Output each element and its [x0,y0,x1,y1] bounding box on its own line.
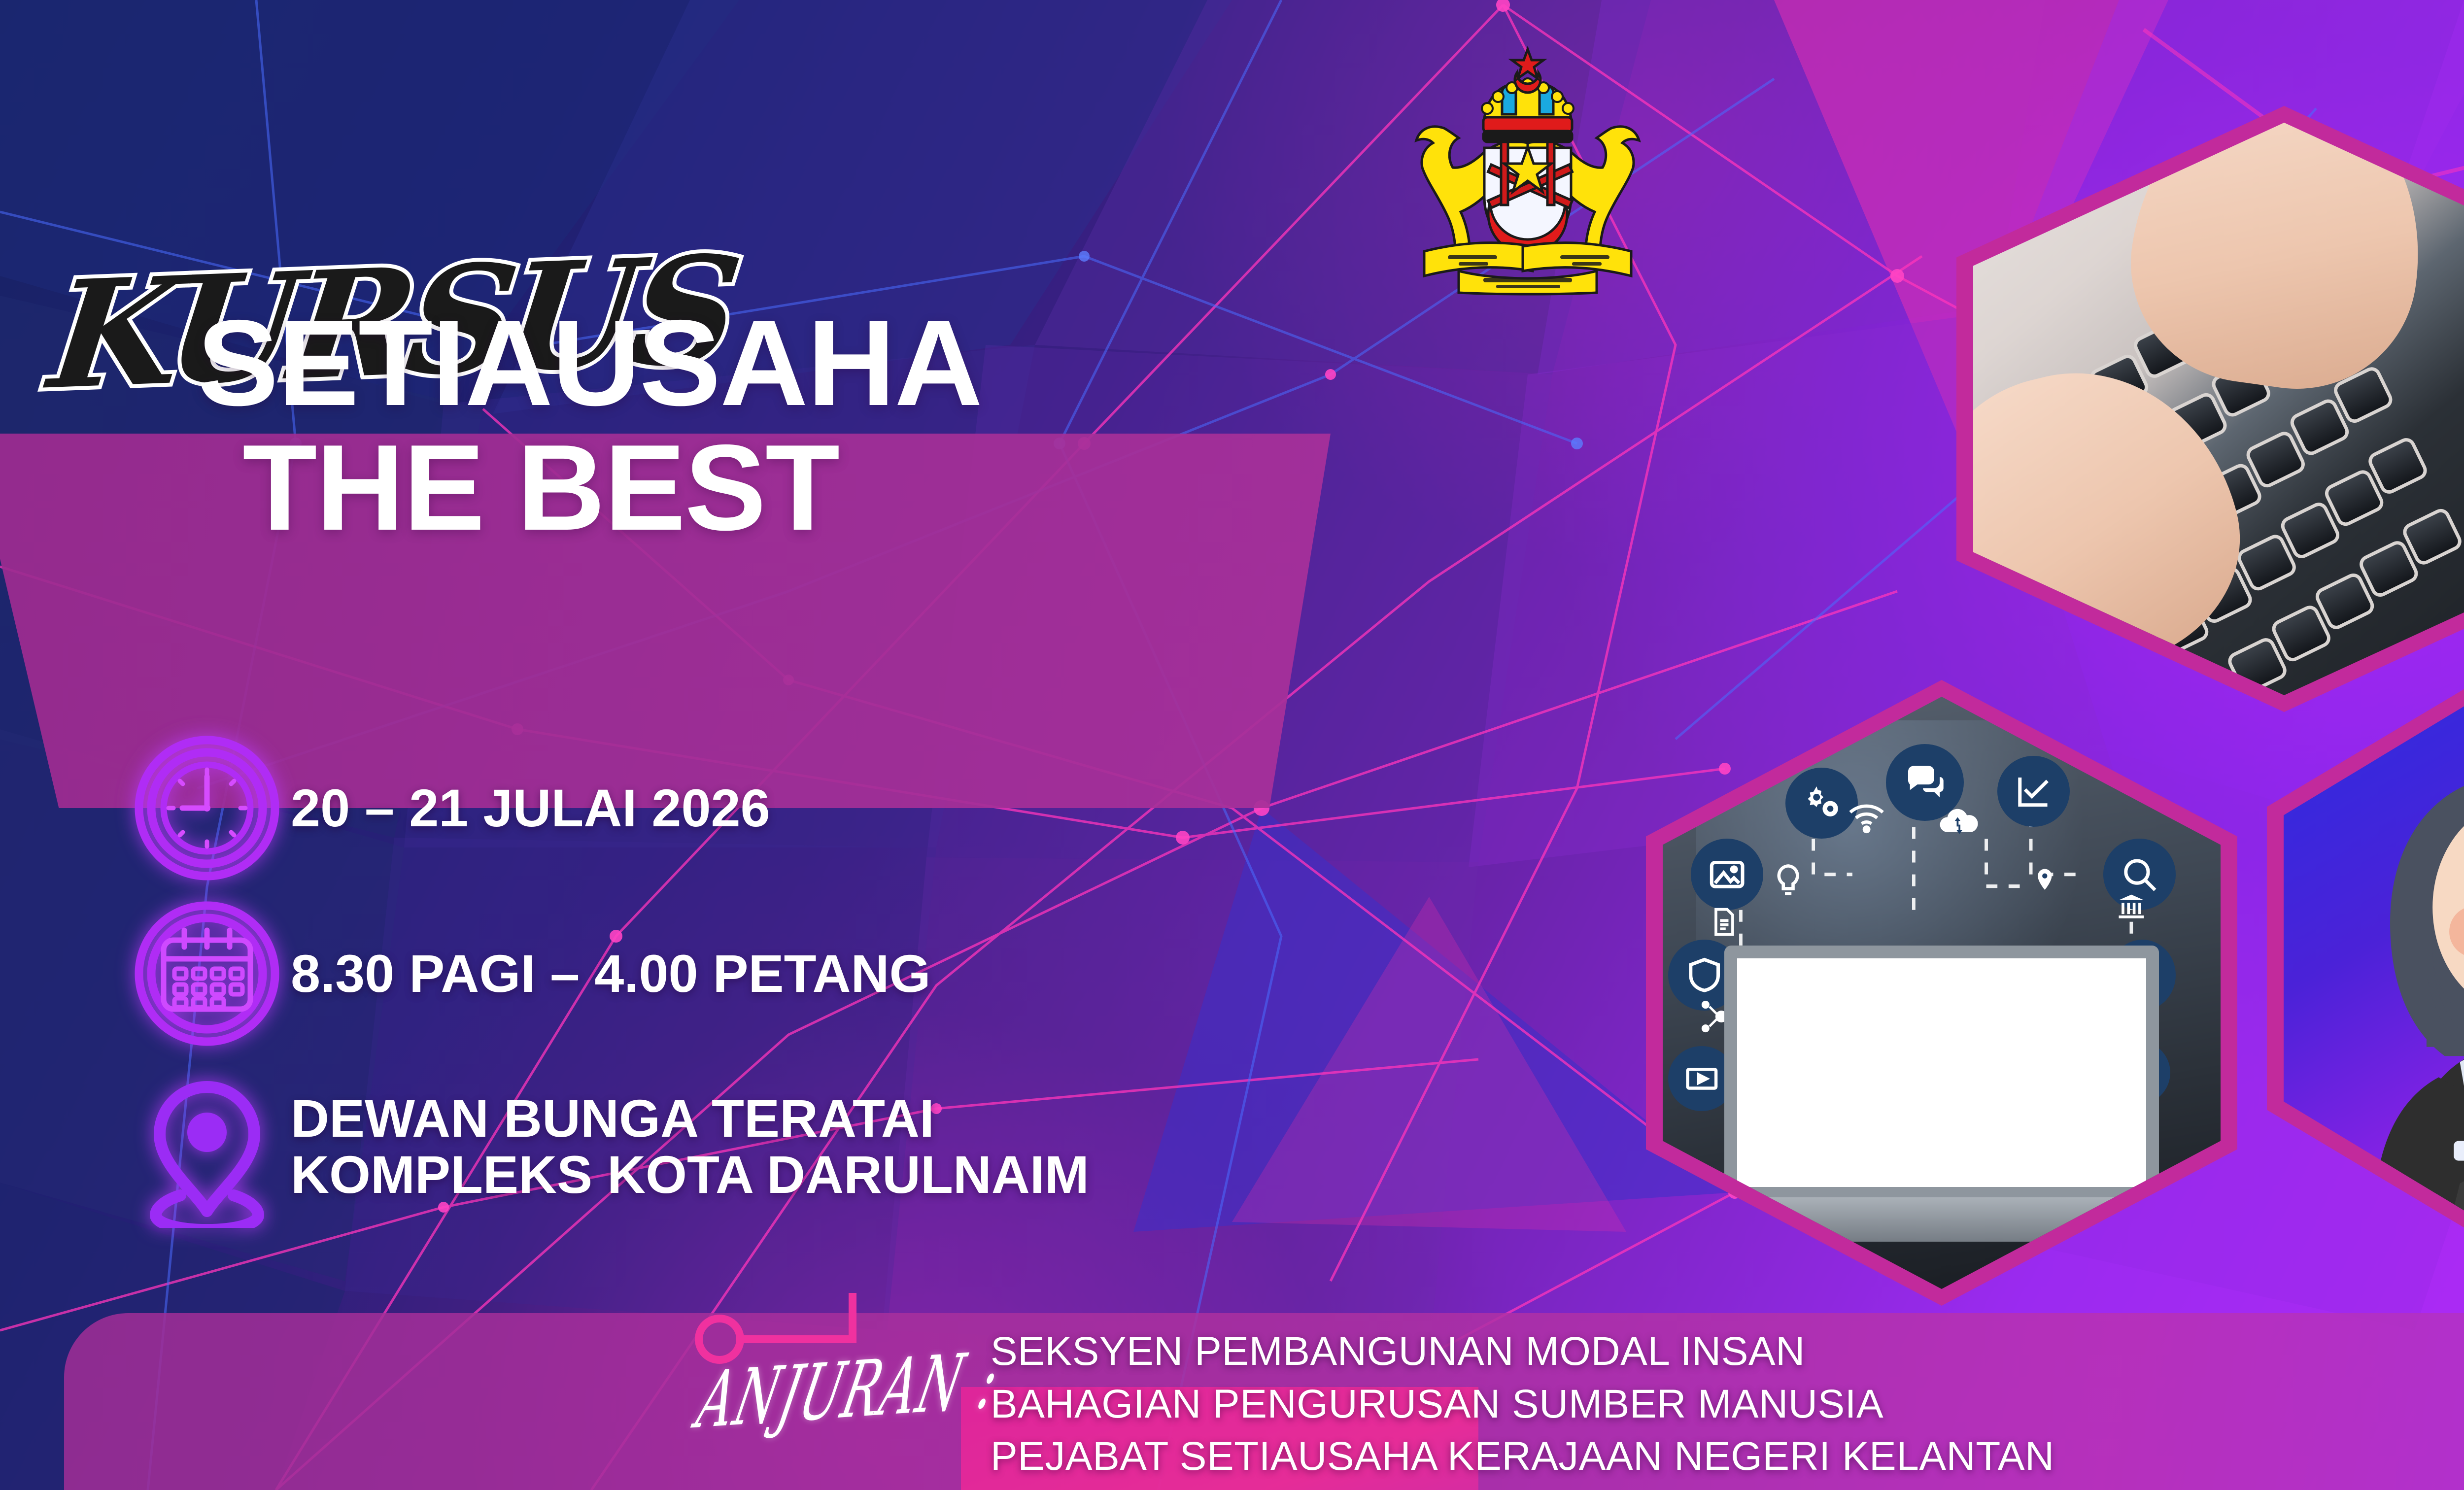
detail-venue-line-2: KOMPLEKS KOTA DARULNAIM [291,1147,1089,1203]
chart-icon [1997,756,2070,827]
detail-text-time: 8.30 PAGI – 4.00 PETANG [291,946,931,1002]
location-pin-icon [123,1065,291,1228]
calendar-icon [123,900,291,1048]
detail-row-venue: DEWAN BUNGA TERATAI KOMPLEKS KOTA DARULN… [123,1065,1454,1228]
laptop-lid [1724,946,2159,1200]
organiser-line-3: PEJABAT SETIAUSAHA KERAJAAN NEGERI KELAN… [991,1430,2464,1483]
detail-venue-line-1: DEWAN BUNGA TERATAI [291,1090,1089,1147]
detail-text-venue: DEWAN BUNGA TERATAI KOMPLEKS KOTA DARULN… [291,1090,1089,1203]
organiser-lines: SEKSYEN PEMBANGUNAN MODAL INSAN BAHAGIAN… [991,1325,2464,1483]
page-title: SETIAUSAHA THE BEST [197,305,1429,545]
lightbulb-icon [1769,857,1808,904]
organiser-line-2: BAHAGIAN PENGURUSAN SUMBER MANUSIA [991,1378,2464,1431]
office-desk-background [1663,697,2221,1289]
poster-canvas: KURSUS SETIAUSAHA THE BEST [0,0,2464,1490]
cloud-sync-icon [1936,797,1981,845]
laptop-illustration [1724,946,2159,1242]
kelantan-state-crest-icon [1409,34,1646,296]
detail-date-value: 20 – 21 JULAI 2026 [291,778,770,838]
bank-building-icon [2115,886,2148,928]
detail-text-date: 20 – 21 JULAI 2026 [291,780,770,836]
detail-time-value: 8.30 PAGI – 4.00 PETANG [291,944,931,1003]
title-line-2: THE BEST [242,430,1429,545]
detail-row-date: 20 – 21 JULAI 2026 [123,734,1454,882]
event-details-list: 20 – 21 JULAI 2026 [123,734,1454,1246]
laptop-technology-icons-photo-inner [1663,697,2221,1289]
clock-icon [123,734,291,882]
laptop-screen [1737,958,2146,1187]
detail-row-time: 8.30 PAGI – 4.00 PETANG [123,900,1454,1048]
map-pin-icon [2031,857,2059,904]
organiser-line-1: SEKSYEN PEMBANGUNAN MODAL INSAN [991,1325,2464,1378]
wifi-icon [1847,797,1886,839]
document-icon [1708,898,1741,946]
title-line-1: SETIAUSAHA [197,305,1429,420]
